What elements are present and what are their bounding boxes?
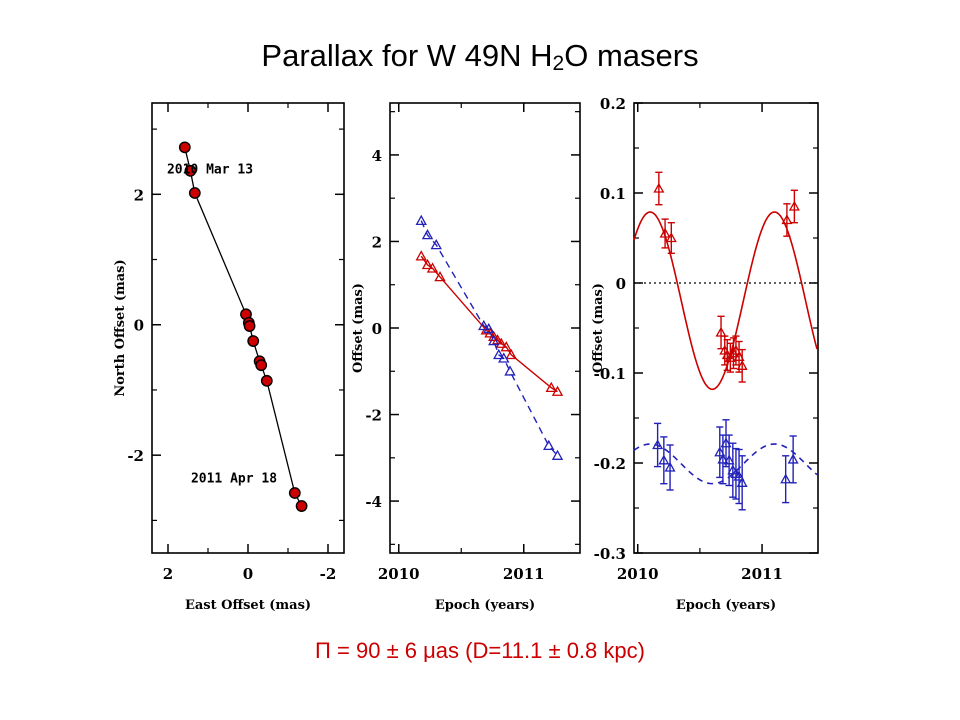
panel3-ytick-label: -0.2 [594, 455, 626, 473]
panel1-ytick-label: 0 [134, 317, 144, 335]
panel2-yaxis-title: Offset (mas) [351, 283, 366, 373]
panel2-data-point [544, 441, 553, 449]
panel3-ytick-label: -0.3 [594, 545, 626, 563]
panel1-epoch-annotation: 2011 Apr 18 [191, 472, 277, 487]
panel2-data-point [417, 252, 426, 260]
panel-sky-motion: 20-220-22010 Mar 132011 Apr 18East Offse… [110, 95, 370, 615]
panel1-data-point [248, 336, 258, 346]
panel1-ytick-label: 2 [134, 186, 144, 204]
panel3-xtick-label: 2011 [741, 565, 783, 583]
panel3-plot-area: 201020110.20.10-0.1-0.2-0.3Epoch (years)… [591, 95, 818, 613]
panel1-data-point [256, 360, 266, 370]
panel3-ytick-label: 0.2 [600, 95, 626, 113]
figure-root: Parallax for W 49N H2O masers 20-220-220… [0, 0, 960, 720]
panel3-data-point [653, 423, 662, 466]
panel1-xtick-label: -2 [320, 565, 337, 583]
panel3-ytick-label: 0 [616, 275, 626, 293]
panel2-ytick-label: 2 [372, 233, 382, 251]
panel2-ytick-label: 4 [372, 147, 382, 165]
panel3-fit-curve-east-residual-red [634, 212, 817, 389]
panel3-xtick-label: 2010 [617, 565, 659, 583]
panel3-data-point [790, 190, 799, 222]
page-title: Parallax for W 49N H2O masers [0, 38, 960, 76]
panel-offset-vs-epoch: 20102011420-2-4Epoch (years)Offset (mas) [348, 95, 598, 615]
panel1-ytick-label: -2 [127, 447, 144, 465]
panel2-ytick-label: -4 [365, 493, 382, 511]
panel1-xtick-label: 0 [243, 565, 253, 583]
page-title-pre: Parallax for W 49N H [261, 38, 552, 73]
panel2-plot-area: 20102011420-2-4Epoch (years)Offset (mas) [351, 103, 580, 613]
panel1-data-point [190, 188, 200, 198]
panel1-yaxis-title: North Offset (mas) [113, 259, 128, 396]
panel1-data-point [244, 321, 254, 331]
panel2-series-line-north-offset-blue [421, 221, 557, 456]
panel1-data-point [296, 501, 306, 511]
panel1-data-point [180, 142, 190, 152]
panel3-ytick-label: 0.1 [600, 185, 626, 203]
panel2-data-point [417, 216, 426, 224]
panel3-data-point [654, 172, 663, 204]
panel3-data-point [659, 437, 668, 484]
panel1-track-line [185, 147, 302, 506]
panel2-xaxis-title: Epoch (years) [435, 598, 535, 613]
panel1-data-point [290, 488, 300, 498]
panel3-data-point [789, 436, 798, 483]
panel-parallax-residuals: 201020110.20.10-0.1-0.2-0.3Epoch (years)… [586, 95, 886, 615]
panel2-xtick-label: 2011 [503, 565, 545, 583]
panel1-epoch-annotation: 2010 Mar 13 [167, 162, 253, 177]
panel1-xaxis-title: East Offset (mas) [185, 598, 311, 613]
panel1-data-point [262, 376, 272, 386]
panel2-data-point [505, 367, 514, 375]
panel1-xtick-label: 2 [163, 565, 173, 583]
page-title-post: O masers [564, 38, 698, 73]
panel1-plot-area: 20-220-22010 Mar 132011 Apr 18East Offse… [113, 103, 344, 613]
panel3-yaxis-title: Offset (mas) [591, 283, 606, 373]
panel3-xaxis-title: Epoch (years) [676, 598, 776, 613]
parallax-result-caption: Π = 90 ± 6 μas (D=11.1 ± 0.8 kpc) [0, 638, 960, 664]
panel2-ytick-label: -2 [365, 407, 382, 425]
page-title-subscript: 2 [553, 52, 565, 75]
panel2-ytick-label: 0 [372, 320, 382, 338]
panel2-xtick-label: 2010 [378, 565, 420, 583]
